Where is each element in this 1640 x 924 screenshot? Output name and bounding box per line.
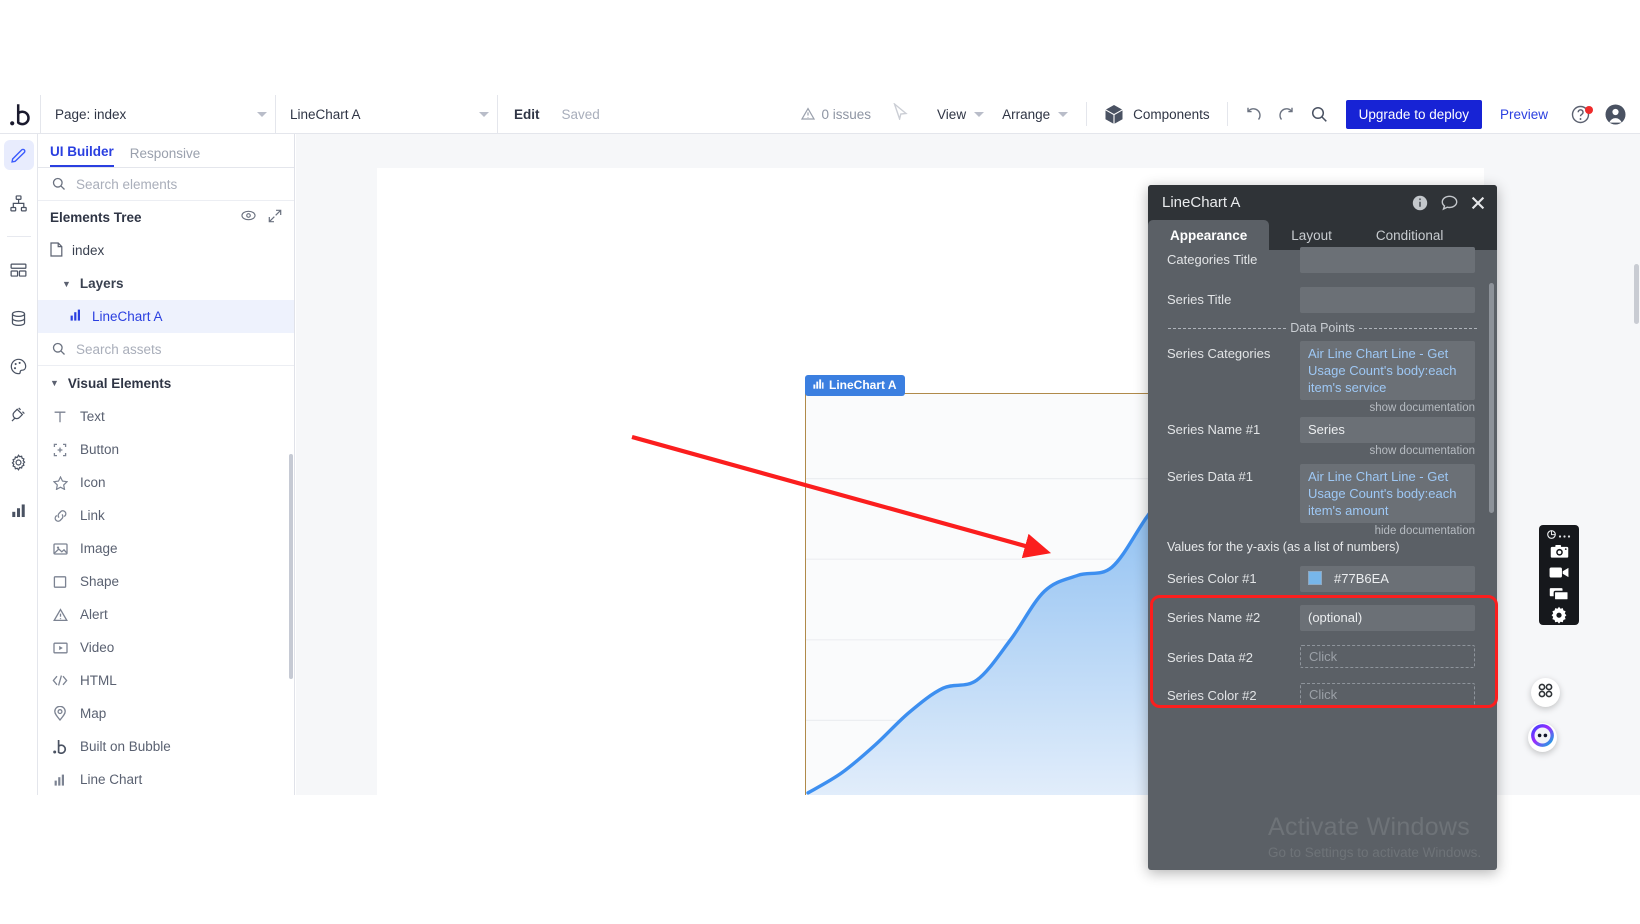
property-label: Series Name #1 — [1167, 417, 1300, 437]
element-item-label: Icon — [80, 475, 106, 490]
series-color-1-value: #77B6EA — [1334, 571, 1389, 586]
property-row-series-title: Series Title — [1148, 273, 1497, 313]
help-icon[interactable] — [1562, 105, 1599, 124]
series-name-1-doc-link[interactable]: show documentation — [1148, 443, 1497, 458]
chevron-down-icon — [479, 112, 489, 117]
layout-icon — [10, 262, 27, 279]
element-item-image[interactable]: Image — [38, 532, 294, 565]
pencil-icon — [10, 147, 27, 164]
data-points-separator: Data Points — [1148, 313, 1497, 341]
view-menu-label: View — [937, 107, 966, 122]
assistant-fab[interactable] — [1528, 723, 1557, 752]
chart-icon — [813, 378, 824, 392]
element-selector[interactable]: LineChart A — [275, 95, 497, 134]
rail-divider — [7, 236, 31, 237]
element-item-link[interactable]: Link — [38, 499, 294, 532]
separator-label: Data Points — [1290, 321, 1355, 335]
properties-panel[interactable]: LineChart A Appearance Layout Conditiona… — [1148, 185, 1497, 870]
element-item-shape[interactable]: Shape — [38, 565, 294, 598]
tree-item-linechart-a[interactable]: LineChart A — [38, 300, 294, 333]
properties-panel-header: LineChart A — [1148, 185, 1497, 220]
caret-down-icon[interactable]: ▼ — [62, 279, 71, 289]
link-icon — [52, 509, 68, 523]
left-panel-tabs: UI Builder Responsive — [38, 134, 294, 168]
element-item-label: HTML — [80, 673, 117, 688]
notification-badge — [1585, 106, 1593, 114]
undo-icon[interactable] — [1237, 106, 1270, 123]
cube-icon — [1104, 104, 1124, 125]
rail-item-data[interactable] — [4, 303, 34, 333]
element-item-label: Video — [80, 640, 114, 655]
series-title-input[interactable] — [1300, 287, 1475, 313]
toolbar-divider — [1227, 102, 1228, 126]
image-icon — [52, 542, 68, 556]
property-row-series-name-2: Series Name #2 (optional) — [1148, 592, 1497, 631]
element-item-label: Built on Bubble — [80, 739, 171, 754]
arrange-menu[interactable]: Arrange — [993, 95, 1077, 134]
preview-button[interactable]: Preview — [1486, 107, 1562, 122]
database-icon — [10, 310, 27, 327]
element-item-built-on-bubble[interactable]: Built on Bubble — [38, 730, 294, 763]
color-swatch[interactable] — [1308, 571, 1322, 585]
search-icon[interactable] — [1303, 106, 1336, 123]
grid-apps-fab[interactable] — [1531, 678, 1560, 707]
element-item-label: Button — [80, 442, 119, 457]
shape-icon — [52, 575, 68, 589]
rail-item-workflow[interactable] — [4, 188, 34, 218]
elements-tree-actions — [241, 209, 282, 226]
alert-triangle-icon — [801, 107, 815, 121]
series-data-2-input[interactable]: Click — [1300, 645, 1475, 668]
button-icon — [52, 443, 68, 457]
search-assets-placeholder: Search assets — [76, 342, 162, 357]
bubble-icon — [52, 739, 68, 754]
window-icon[interactable] — [1542, 583, 1576, 604]
bubble-logo-icon[interactable] — [0, 95, 40, 134]
rail-item-styles[interactable] — [4, 351, 34, 381]
element-item-icon[interactable]: Icon — [38, 466, 294, 499]
rail-item-logs[interactable] — [4, 495, 34, 525]
grid-apps-icon — [1537, 682, 1554, 704]
property-label: Series Data #1 — [1167, 464, 1300, 484]
tree-item-label: LineChart A — [92, 309, 163, 324]
element-item-html[interactable]: HTML — [38, 664, 294, 697]
edit-button[interactable]: Edit — [514, 107, 540, 122]
element-item-video[interactable]: Video — [38, 631, 294, 664]
series-color-2-input[interactable]: Click — [1300, 683, 1475, 706]
canvas-scrollbar[interactable] — [1634, 264, 1639, 324]
issues-indicator[interactable]: 0 issues — [801, 107, 880, 122]
visual-elements-section-header[interactable]: ▼ Visual Elements — [38, 366, 294, 400]
bar-chart-icon — [10, 502, 27, 519]
element-item-label: Link — [80, 508, 105, 523]
property-label: Series Title — [1167, 287, 1300, 307]
sitemap-icon — [10, 195, 27, 212]
series-categories-doc-link[interactable]: show documentation — [1148, 400, 1497, 415]
property-label: Series Name #2 — [1167, 605, 1300, 625]
saved-status: Saved — [562, 107, 600, 122]
element-item-text[interactable]: Text — [38, 400, 294, 433]
tree-item-label: index — [72, 243, 104, 258]
series-color-1-input[interactable]: #77B6EA — [1300, 566, 1475, 592]
expand-icon[interactable] — [268, 209, 282, 226]
components-button[interactable]: Components — [1096, 104, 1218, 125]
star-icon — [52, 476, 68, 490]
chevron-down-icon — [1058, 112, 1068, 117]
tab-responsive[interactable]: Responsive — [130, 146, 201, 167]
property-row-categories-title: Categories Title — [1148, 242, 1497, 273]
tree-item-label: Layers — [80, 276, 124, 291]
separator-dash-right — [1359, 328, 1477, 329]
property-label: Series Categories — [1167, 341, 1300, 361]
element-item-label: Shape — [80, 574, 119, 589]
chevron-down-icon — [257, 112, 267, 117]
recorder-header — [1547, 528, 1571, 541]
series-data-1-hint: Values for the y-axis (as a list of numb… — [1148, 538, 1497, 560]
property-row-series-color-2: Series Color #2 Click — [1148, 668, 1497, 706]
search-icon — [52, 342, 66, 356]
series-name-1-input[interactable]: Series — [1300, 417, 1475, 443]
video-camera-icon[interactable] — [1542, 562, 1576, 583]
chevron-down-icon — [974, 112, 984, 117]
camera-icon[interactable] — [1542, 541, 1576, 562]
code-icon — [52, 674, 68, 687]
property-label: Series Color #2 — [1167, 683, 1300, 703]
property-label: Series Color #1 — [1167, 566, 1300, 586]
element-selector-value: LineChart A — [290, 107, 467, 122]
chart-element-badge[interactable]: LineChart A — [805, 375, 905, 396]
rail-item-plugins[interactable] — [4, 399, 34, 429]
palette-icon — [10, 358, 27, 375]
properties-panel-title: LineChart A — [1162, 194, 1399, 211]
edit-status-group: Edit Saved — [497, 95, 616, 134]
arrange-menu-label: Arrange — [1002, 107, 1050, 122]
property-row-series-color-1: Series Color #1 #77B6EA — [1148, 560, 1497, 592]
categories-title-input[interactable] — [1300, 247, 1475, 273]
tree-item-index[interactable]: index — [38, 234, 294, 267]
cursor-tool-button[interactable] — [879, 103, 928, 125]
plug-icon — [10, 406, 27, 423]
text-icon — [52, 410, 68, 424]
series-name-2-input[interactable]: (optional) — [1300, 605, 1475, 631]
rail-item-settings[interactable] — [4, 447, 34, 477]
property-label: Series Data #2 — [1167, 645, 1300, 665]
property-row-series-data-1: Series Data #1 Air Line Chart Line - Get… — [1148, 458, 1497, 523]
element-item-map[interactable]: Map — [38, 697, 294, 730]
toolbar-divider — [1086, 102, 1087, 126]
screen-recorder-toolbar[interactable] — [1539, 525, 1579, 625]
separator-dash-left — [1168, 328, 1286, 329]
alert-icon — [52, 608, 68, 622]
left-panel-scrollbar[interactable] — [289, 454, 293, 679]
gear-icon — [10, 454, 27, 471]
tab-ui-builder[interactable]: UI Builder — [50, 144, 114, 167]
search-icon — [52, 177, 66, 191]
property-row-series-data-2: Series Data #2 Click — [1148, 631, 1497, 668]
caret-down-icon[interactable]: ▼ — [50, 378, 59, 388]
elements-tree-header: Elements Tree — [38, 201, 294, 234]
left-icon-rail — [0, 134, 38, 795]
close-icon[interactable] — [1471, 196, 1485, 210]
element-item-label: Alert — [80, 607, 108, 622]
properties-panel-body: Categories Title Series Title Data Point… — [1148, 250, 1497, 706]
comment-icon[interactable] — [1441, 195, 1458, 211]
element-item-label: Map — [80, 706, 106, 721]
tree-item-layers[interactable]: ▼ Layers — [38, 267, 294, 300]
elements-tree-title: Elements Tree — [50, 210, 142, 225]
series-data-1-doc-link[interactable]: hide documentation — [1148, 523, 1497, 538]
chart-icon — [52, 774, 68, 786]
element-item-button[interactable]: Button — [38, 433, 294, 466]
eye-icon[interactable] — [241, 209, 256, 226]
left-panel: UI Builder Responsive Search elements El… — [38, 134, 295, 795]
redo-icon[interactable] — [1270, 106, 1303, 123]
page-icon — [50, 242, 63, 260]
search-elements-placeholder: Search elements — [76, 177, 177, 192]
chart-icon — [70, 309, 83, 324]
visual-elements-title: Visual Elements — [68, 376, 171, 391]
properties-panel-scrollbar[interactable] — [1489, 283, 1494, 513]
info-icon[interactable] — [1412, 195, 1428, 211]
element-item-label: Text — [80, 409, 105, 424]
element-item-line-chart[interactable]: Line Chart — [38, 763, 294, 796]
user-avatar[interactable] — [1599, 104, 1640, 125]
search-elements-field[interactable]: Search elements — [38, 168, 294, 201]
gear-icon[interactable] — [1542, 604, 1576, 625]
search-assets-field[interactable]: Search assets — [38, 333, 294, 366]
video-icon — [52, 641, 68, 655]
element-item-alert[interactable]: Alert — [38, 598, 294, 631]
property-row-series-categories: Series Categories Air Line Chart Line - … — [1148, 341, 1497, 400]
rail-item-design[interactable] — [4, 140, 34, 170]
element-item-label: Image — [80, 541, 118, 556]
property-label: Categories Title — [1167, 247, 1300, 267]
series-data-1-input[interactable]: Air Line Chart Line - Get Usage Count's … — [1300, 464, 1475, 523]
top-toolbar: Page: index LineChart A Edit Saved 0 iss… — [0, 95, 1640, 134]
page-selector[interactable]: Page: index — [40, 95, 275, 134]
property-row-series-name-1: Series Name #1 Series — [1148, 415, 1497, 443]
element-item-label: Line Chart — [80, 772, 142, 787]
page-selector-value: Page: index — [55, 107, 245, 122]
map-pin-icon — [52, 706, 68, 721]
series-categories-input[interactable]: Air Line Chart Line - Get Usage Count's … — [1300, 341, 1475, 400]
upgrade-to-deploy-button[interactable]: Upgrade to deploy — [1346, 100, 1482, 129]
components-label: Components — [1133, 107, 1210, 122]
view-menu[interactable]: View — [928, 95, 993, 134]
rail-item-layouts[interactable] — [4, 255, 34, 285]
chart-badge-label: LineChart A — [829, 378, 897, 392]
issues-label: 0 issues — [822, 107, 872, 122]
bubble-editor: Page: index LineChart A Edit Saved 0 iss… — [0, 95, 1640, 795]
assistant-face-icon — [1530, 723, 1555, 753]
